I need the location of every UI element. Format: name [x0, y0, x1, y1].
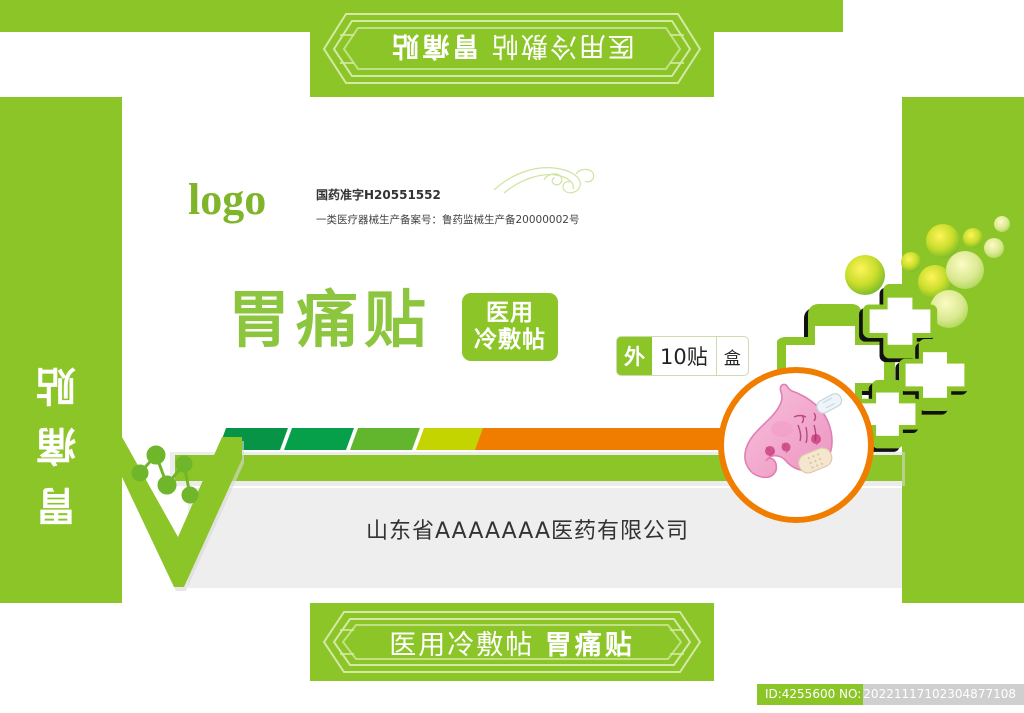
quantity-badge: 外 10贴 盒: [616, 336, 749, 376]
quantity-count: 10贴: [652, 337, 717, 375]
category-badge: 医用 冷敷帖: [462, 293, 558, 361]
stomach-illustration: [718, 367, 874, 523]
site-url: www.nipic.cn: [101, 686, 211, 709]
approval-number: 国药准字H20551552: [316, 186, 441, 203]
top-flap-text-main: 医用冷敷帖: [490, 30, 635, 61]
site-char-1: 昵: [10, 684, 37, 711]
top-flap-ornament-frame: 医用冷敷帖 胃痛贴: [310, 0, 714, 97]
top-flap-text: 医用冷敷帖 胃痛贴: [389, 29, 635, 68]
bottom-flap-panel: 医用冷敷帖 胃痛贴: [310, 603, 714, 681]
pink-stomach-icon: [724, 373, 856, 505]
filing-number: 一类医疗器械生产备案号：鲁药监械生产备20000002号: [316, 212, 579, 227]
bottom-flap-text-main: 医用冷敷帖: [389, 630, 534, 661]
site-char-2: 享: [39, 684, 66, 711]
image-no-text: 20221117102304877108: [863, 684, 1024, 705]
left-panel-vertical-text: 胃痛贴: [31, 347, 89, 527]
image-id-bar: ID:4255600 NO: 20221117102304877108: [757, 684, 1024, 705]
quantity-unit: 盒: [717, 337, 748, 375]
site-watermark: 昵 享 网 www.nipic.cn: [10, 684, 211, 711]
site-char-3: 网: [68, 684, 95, 711]
bottom-flap-ornament-frame: 医用冷敷帖 胃痛贴: [310, 603, 714, 681]
product-title: 胃痛贴: [228, 289, 432, 351]
cloud-swirl-icon: [492, 160, 598, 206]
company-name: 山东省AAAAAAA医药有限公司: [366, 513, 689, 545]
color-segment-3: [350, 428, 420, 450]
image-id-text: ID:4255600 NO:: [757, 684, 863, 705]
category-badge-line1: 医用: [486, 300, 534, 327]
green-chevron-icon: [122, 437, 272, 597]
left-side-panel: 胃痛贴: [0, 97, 122, 603]
packaging-dieline-canvas: 医用冷敷帖 胃痛贴 胃痛贴 胃痛贴: [0, 0, 1024, 713]
color-segment-2: [284, 428, 354, 450]
site-logo-chars: 昵 享 网: [10, 684, 95, 711]
category-badge-line2: 冷敷帖: [474, 327, 546, 354]
quantity-prefix: 外: [617, 337, 652, 375]
bottom-flap-text-bold: 胃痛贴: [545, 630, 635, 661]
top-flap-text-bold: 胃痛贴: [389, 30, 479, 61]
bottom-flap-text: 医用冷敷帖 胃痛贴: [389, 623, 635, 662]
top-flap-panel: 医用冷敷帖 胃痛贴: [310, 0, 714, 97]
brand-logo: logo: [188, 178, 266, 222]
